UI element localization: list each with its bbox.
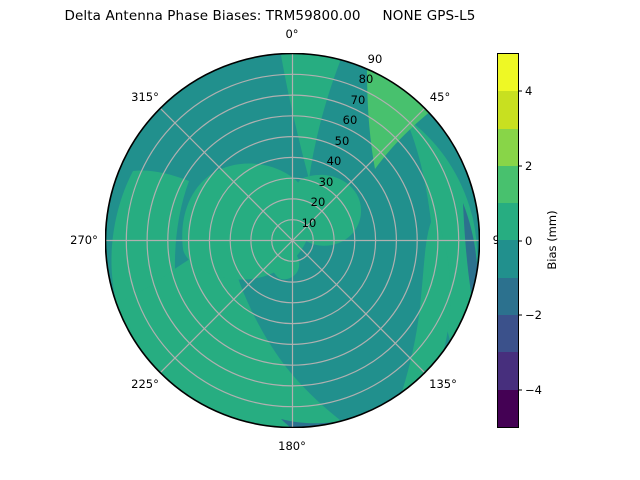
colorbar-tick-neg4 (518, 389, 522, 390)
colorbar-tick-4 (518, 91, 522, 92)
azimuth-label-0: 0° (285, 27, 298, 41)
colorbar-tick-neg2 (518, 315, 522, 316)
radial-label-10: 10 (302, 216, 317, 230)
azimuth-label-135: 135° (429, 377, 457, 391)
azimuth-label-225: 225° (131, 377, 159, 391)
colorbar-tick-2 (518, 165, 522, 166)
polar-grid-spokes (106, 54, 480, 428)
polar-plot-svg (105, 53, 480, 428)
radial-label-20: 20 (311, 195, 326, 209)
colorbar-ticklabel-4: 4 (525, 84, 532, 98)
azimuth-label-270: 270° (70, 233, 98, 247)
colorbar-band-0-1 (498, 240, 518, 277)
colorbar-ticklabel-neg4: −4 (525, 383, 542, 397)
colorbar-axis-label: Bias (mm) (545, 210, 559, 269)
colorbar-band-3-4 (498, 91, 518, 128)
colorbar-tick-0 (518, 240, 522, 241)
radial-label-90: 90 (368, 52, 383, 66)
radial-label-80: 80 (359, 72, 374, 86)
colorbar-band-1-2 (498, 203, 518, 240)
azimuth-label-180: 180° (278, 439, 306, 453)
colorbar-band-neg3-neg2 (498, 352, 518, 389)
colorbar-band-neg2-neg1 (498, 315, 518, 352)
polar-skyplot-axes: 0° 45° 90 135° 180° 225° 270° 315° 10 20… (105, 53, 480, 428)
colorbar-band-neg5-neg3 (498, 390, 518, 427)
colorbar-band-2-3 (498, 129, 518, 166)
colorbar-ticklabel-2: 2 (525, 159, 532, 173)
radial-label-50: 50 (335, 134, 350, 148)
page-title: Delta Antenna Phase Biases: TRM59800.00 … (0, 8, 540, 24)
colorbar-ticklabel-0: 0 (525, 234, 532, 248)
azimuth-label-315: 315° (131, 90, 159, 104)
radial-label-70: 70 (351, 93, 366, 107)
colorbar-band-1-2b (498, 166, 518, 203)
radial-label-40: 40 (327, 154, 342, 168)
azimuth-label-45: 45° (430, 90, 450, 104)
radial-label-30: 30 (319, 175, 334, 189)
colorbar-ticklabel-neg2: −2 (525, 308, 542, 322)
colorbar: 4 2 0 −2 −4 (497, 53, 519, 428)
matplotlib-figure: Delta Antenna Phase Biases: TRM59800.00 … (0, 0, 640, 480)
colorbar-band-4-5 (498, 54, 518, 91)
radial-label-60: 60 (343, 113, 358, 127)
colorbar-band-neg1-0 (498, 278, 518, 315)
